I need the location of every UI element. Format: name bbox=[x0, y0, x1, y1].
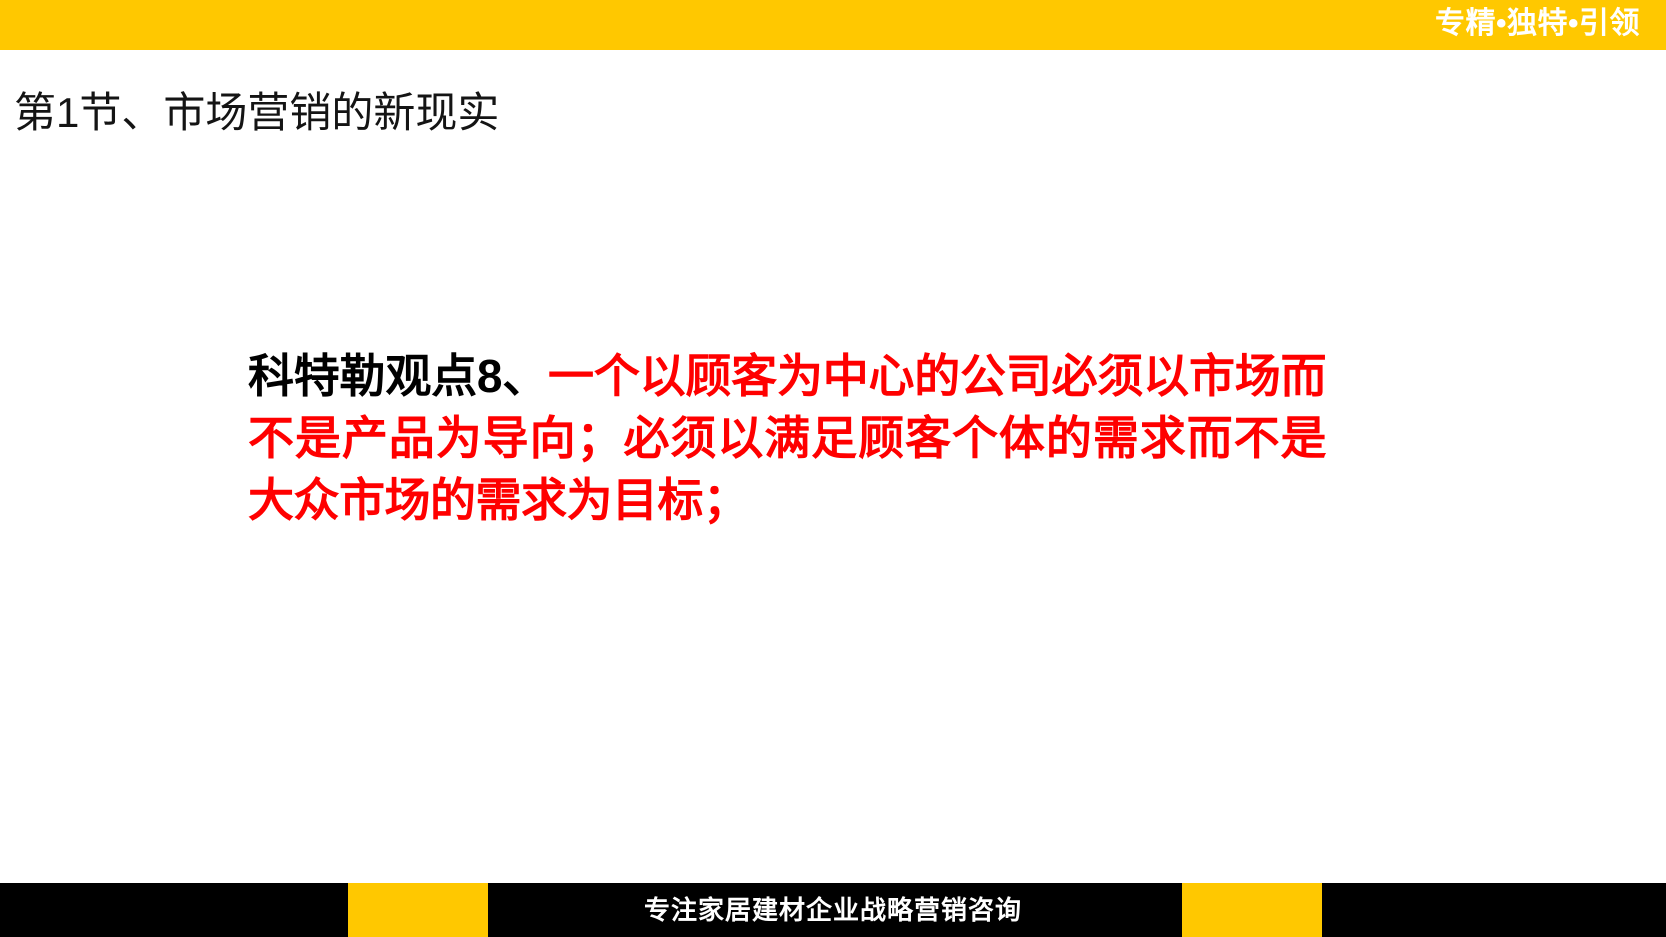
header-tagline: 专精•独特•引领 bbox=[1435, 0, 1640, 50]
page-title: 第1节、市场营销的新现实 bbox=[14, 88, 499, 138]
statement-block: 科特勒观点8、一个以顾客为中心的公司必须以市场而不是产品为导向；必须以满足顾客个… bbox=[248, 345, 1326, 531]
footer-tagline: 专注家居建材企业战略营销咨询 bbox=[0, 883, 1666, 937]
header-band: 专精•独特•引领 bbox=[0, 0, 1666, 50]
footer-bar: 专注家居建材企业战略营销咨询 bbox=[0, 883, 1666, 937]
statement-lead: 科特勒观点8、 bbox=[248, 350, 548, 402]
slide-canvas: 专精•独特•引领 第1节、市场营销的新现实 科特勒观点8、一个以顾客为中心的公司… bbox=[0, 0, 1666, 937]
